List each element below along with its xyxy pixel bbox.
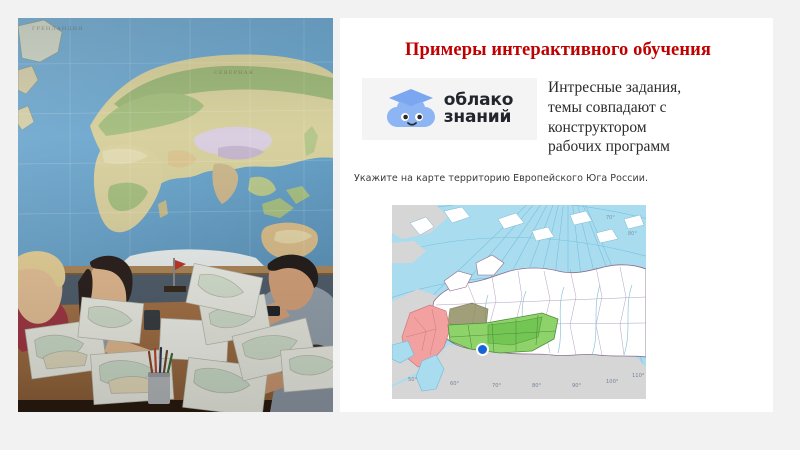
page-title: Примеры интерактивного обучения	[358, 40, 758, 61]
blurb-line-3: конструктором	[548, 118, 763, 138]
content-panel: Примеры интерактивного обучения облако з…	[340, 18, 773, 412]
logo-wordmark: облако знаний	[444, 92, 514, 127]
svg-text:60°: 60°	[450, 381, 460, 387]
feature-blurb: Интресные задания, темы совпадают с конс…	[548, 78, 763, 157]
russia-regions-map[interactable]: 50° 60° 70° 80° 90° 100° 110° 70° 80°	[392, 205, 646, 399]
blurb-line-4: рабочих программ	[548, 137, 763, 157]
svg-text:90°: 90°	[572, 383, 582, 389]
blurb-line-2: темы совпадают с	[548, 98, 763, 118]
svg-text:80°: 80°	[532, 383, 542, 389]
svg-text:80°: 80°	[628, 231, 637, 237]
svg-text:70°: 70°	[606, 215, 615, 221]
cloud-graduate-icon	[386, 87, 436, 131]
map-answer-marker[interactable]	[476, 343, 489, 356]
svg-text:50°: 50°	[408, 377, 418, 383]
svg-text:110°: 110°	[632, 373, 645, 379]
logo-line-2: знаний	[444, 109, 514, 126]
task-caption: Укажите на карте территорию Европейского…	[354, 173, 764, 184]
svg-text:100°: 100°	[606, 379, 619, 385]
oblako-znaniy-logo: облако знаний	[362, 78, 537, 140]
slide-root: СЕВЕРНАЯ ГРЕНЛАНДИЯ	[0, 0, 800, 450]
classroom-map-lesson-photo: СЕВЕРНАЯ ГРЕНЛАНДИЯ	[18, 18, 333, 412]
svg-text:70°: 70°	[492, 383, 502, 389]
blurb-line-1: Интресные задания,	[548, 78, 763, 98]
